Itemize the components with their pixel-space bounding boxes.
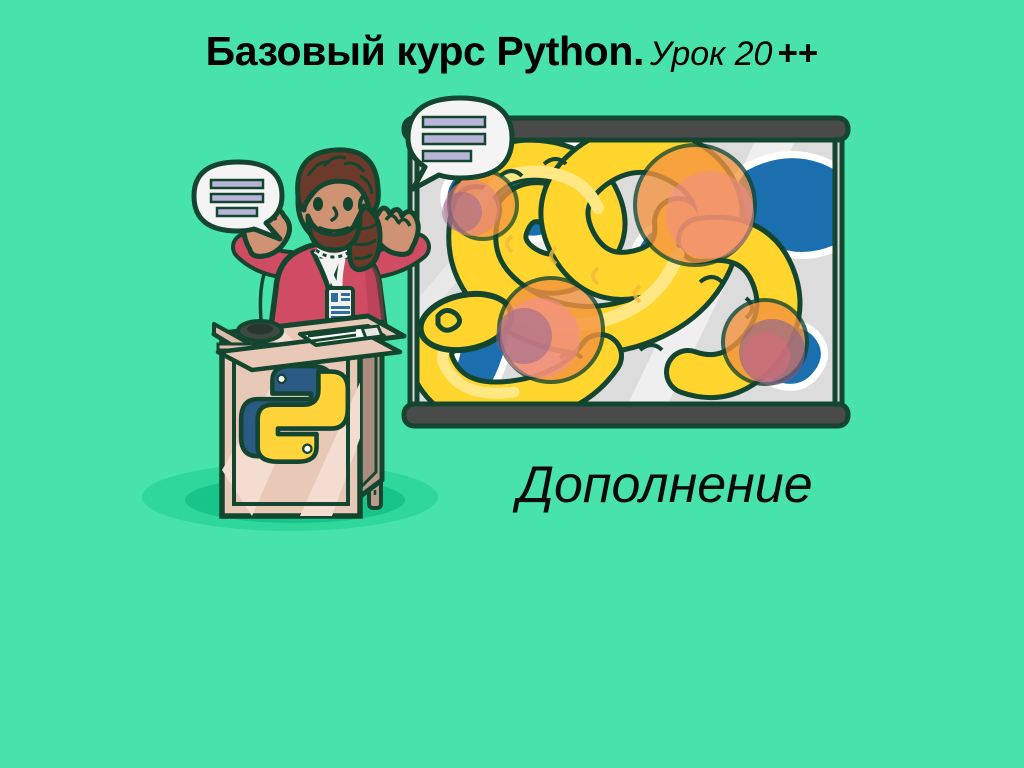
page-title: Базовый курс Python.Урок 20++ bbox=[0, 28, 1024, 75]
screen-bottom-bar bbox=[404, 404, 848, 426]
illustration-presenter-with-projection-screen bbox=[0, 0, 1024, 768]
slide-root: Базовый курс Python.Урок 20++ Дополнение bbox=[0, 0, 1024, 768]
title-lesson-text: Урок 20 bbox=[650, 35, 773, 73]
title-plus-marker: ++ bbox=[777, 34, 818, 73]
title-main-text: Базовый курс Python. bbox=[206, 28, 644, 74]
speech-bubble-small bbox=[194, 162, 282, 239]
bubble-text-lines bbox=[211, 180, 263, 216]
subtitle-text: Дополнение bbox=[430, 455, 900, 515]
